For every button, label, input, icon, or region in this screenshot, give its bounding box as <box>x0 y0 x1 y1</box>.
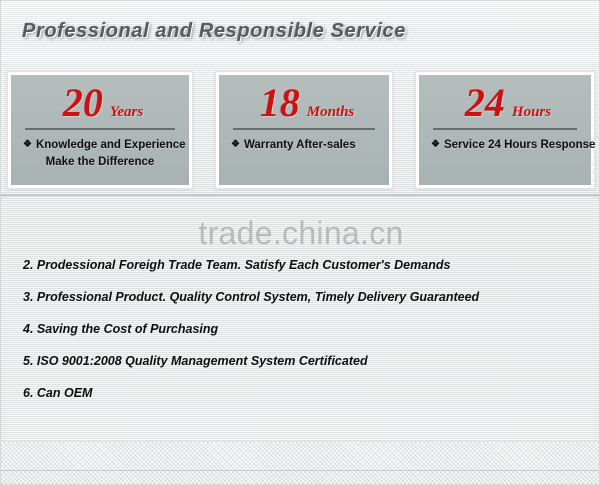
card-line: ❖Knowledge and Experience <box>19 137 181 154</box>
card-line: Make the Difference <box>19 154 181 171</box>
card-line: ❖Warranty After-sales <box>227 137 381 154</box>
service-card-body: 18 Months ❖Warranty After-sales <box>219 75 389 185</box>
list-item: 3. Professional Product. Quality Control… <box>1 281 600 313</box>
card-headline: 24 Hours <box>427 83 583 123</box>
card-divider <box>433 128 577 130</box>
service-card-months: 18 Months ❖Warranty After-sales <box>215 71 393 189</box>
card-divider <box>25 128 175 130</box>
service-cards-strip: 20 Years ❖Knowledge and Experience Make … <box>1 63 600 193</box>
service-card-body: 20 Years ❖Knowledge and Experience Make … <box>11 75 189 185</box>
diamond-bullet-icon: ❖ <box>431 136 440 153</box>
service-card-years: 20 Years ❖Knowledge and Experience Make … <box>7 71 193 189</box>
card-line-text: Knowledge and Experience <box>36 139 186 151</box>
diamond-bullet-icon: ❖ <box>23 136 32 153</box>
feature-list: 2. Prodessional Foreigh Trade Team. Sati… <box>1 249 600 409</box>
footer-rule <box>1 470 600 471</box>
service-card-hours: 24 Hours ❖Service 24 Hours Response <box>415 71 595 189</box>
card-unit: Months <box>307 104 355 121</box>
card-divider <box>233 128 375 130</box>
list-item: 5. ISO 9001:2008 Quality Management Syst… <box>1 345 600 377</box>
card-unit: Hours <box>512 104 551 121</box>
card-unit: Years <box>110 104 143 121</box>
section-divider <box>1 194 600 197</box>
promo-banner: Professional and Responsible Service 20 … <box>0 0 600 485</box>
card-line-text: Service 24 Hours Response <box>444 139 596 151</box>
card-text-block: ❖Warranty After-sales <box>227 137 381 154</box>
list-item: 2. Prodessional Foreigh Trade Team. Sati… <box>1 249 600 281</box>
card-text-block: ❖Knowledge and Experience Make the Diffe… <box>19 137 181 171</box>
card-line-text: Warranty After-sales <box>244 139 356 151</box>
card-number: 24 <box>465 83 505 123</box>
card-line: ❖Service 24 Hours Response <box>427 137 583 154</box>
header-band: Professional and Responsible Service <box>1 1 600 61</box>
card-number: 18 <box>260 83 300 123</box>
footer-band <box>1 441 600 485</box>
card-text-block: ❖Service 24 Hours Response <box>427 137 583 154</box>
service-card-body: 24 Hours ❖Service 24 Hours Response <box>419 75 591 185</box>
list-item: 6. Can OEM <box>1 377 600 409</box>
watermark-text: trade.china.cn <box>1 215 600 252</box>
card-headline: 20 Years <box>19 83 181 123</box>
list-item: 4. Saving the Cost of Purchasing <box>1 313 600 345</box>
card-headline: 18 Months <box>227 83 381 123</box>
card-number: 20 <box>63 83 103 123</box>
diamond-bullet-icon: ❖ <box>231 136 240 153</box>
page-title: Professional and Responsible Service <box>22 20 406 43</box>
